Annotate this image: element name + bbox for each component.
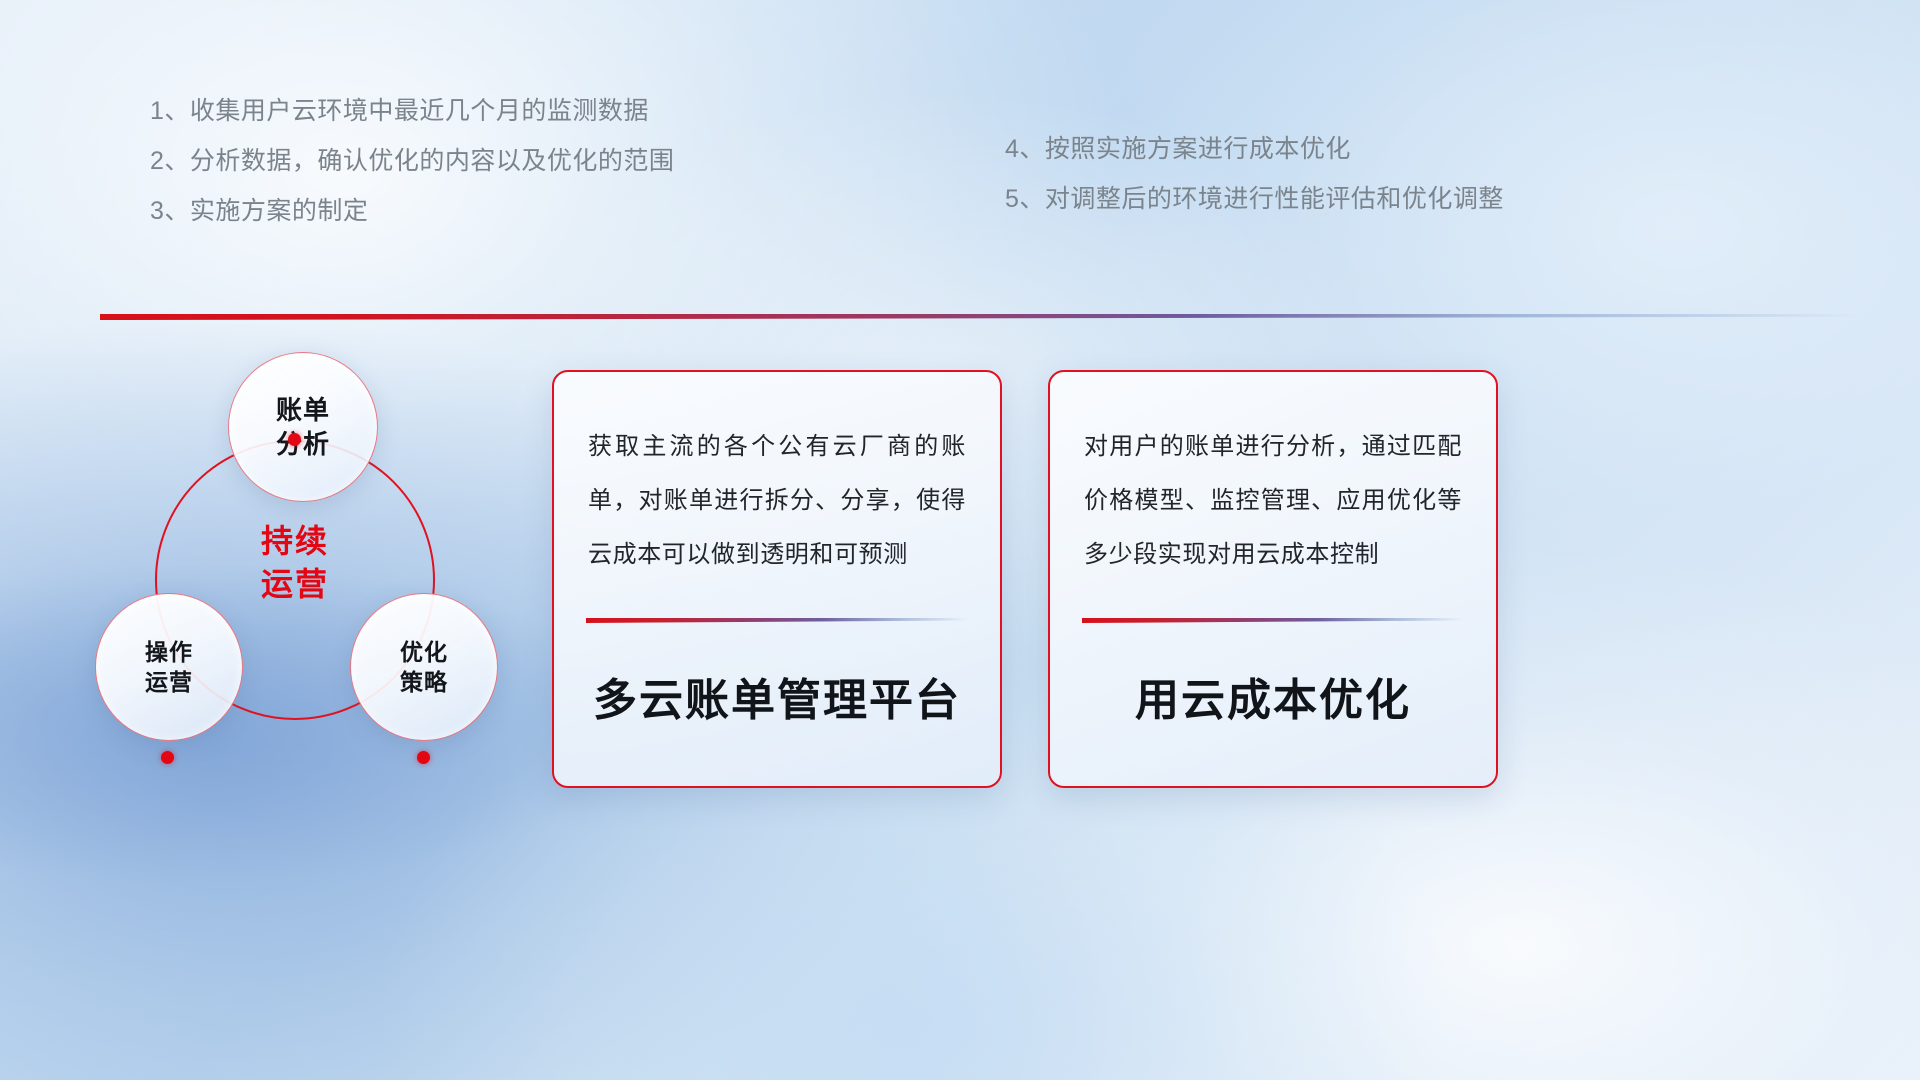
card-1-body: 获取主流的各个公有云厂商的账单，对账单进行拆分、分享，使得云成本可以做到透明和可…	[588, 420, 966, 582]
diagram-node-dot-left	[161, 751, 174, 764]
bullet-item-5: 5、对调整后的环境进行性能评估和优化调整	[1005, 174, 1504, 224]
diagram-center-label: 持续 运营	[225, 520, 365, 606]
diagram-node-dot-top	[288, 433, 301, 446]
card-1-divider	[586, 618, 968, 623]
bubble-right-line1: 优化	[400, 637, 448, 667]
card-2-title: 用云成本优化	[1050, 664, 1496, 728]
diagram-bubble-bill-analysis[interactable]: 账单 分析	[228, 352, 378, 502]
diagram-bubble-optimization-strategy[interactable]: 优化 策略	[350, 593, 498, 741]
cycle-diagram: 持续 运营 账单 分析 操作 运营 优化 策略	[95, 360, 565, 780]
bullet-column-left: 1、收集用户云环境中最近几个月的监测数据 2、分析数据，确认优化的内容以及优化的…	[150, 86, 674, 236]
card-2-divider	[1082, 618, 1464, 623]
card-2-body: 对用户的账单进行分析，通过匹配价格模型、监控管理、应用优化等多少段实现对用云成本…	[1084, 420, 1462, 582]
bubble-top-line1: 账单	[276, 393, 330, 427]
diagram-node-dot-right	[417, 751, 430, 764]
bubble-top-line2: 分析	[276, 427, 330, 461]
bubble-left-line1: 操作	[145, 637, 193, 667]
bubble-label-top: 账单 分析	[276, 393, 330, 462]
bullet-list-section: 1、收集用户云环境中最近几个月的监测数据 2、分析数据，确认优化的内容以及优化的…	[0, 86, 1920, 246]
bubble-label-left: 操作 运营	[145, 637, 193, 698]
center-label-line2: 运营	[225, 563, 365, 606]
feature-card-cost-optimization[interactable]: 对用户的账单进行分析，通过匹配价格模型、监控管理、应用优化等多少段实现对用云成本…	[1048, 370, 1498, 788]
bubble-left-line2: 运营	[145, 667, 193, 697]
diagram-bubble-operations[interactable]: 操作 运营	[95, 593, 243, 741]
bullet-item-3: 3、实施方案的制定	[150, 186, 674, 236]
feature-card-multicloud-billing[interactable]: 获取主流的各个公有云厂商的账单，对账单进行拆分、分享，使得云成本可以做到透明和可…	[552, 370, 1002, 788]
bullet-item-2: 2、分析数据，确认优化的内容以及优化的范围	[150, 136, 674, 186]
card-1-title: 多云账单管理平台	[554, 664, 1000, 728]
bubble-label-right: 优化 策略	[400, 637, 448, 698]
bullet-item-4: 4、按照实施方案进行成本优化	[1005, 124, 1504, 174]
bubble-right-line2: 策略	[400, 667, 448, 697]
center-label-line1: 持续	[225, 520, 365, 563]
bullet-item-1: 1、收集用户云环境中最近几个月的监测数据	[150, 86, 674, 136]
bullet-column-right: 4、按照实施方案进行成本优化 5、对调整后的环境进行性能评估和优化调整	[1005, 124, 1504, 224]
